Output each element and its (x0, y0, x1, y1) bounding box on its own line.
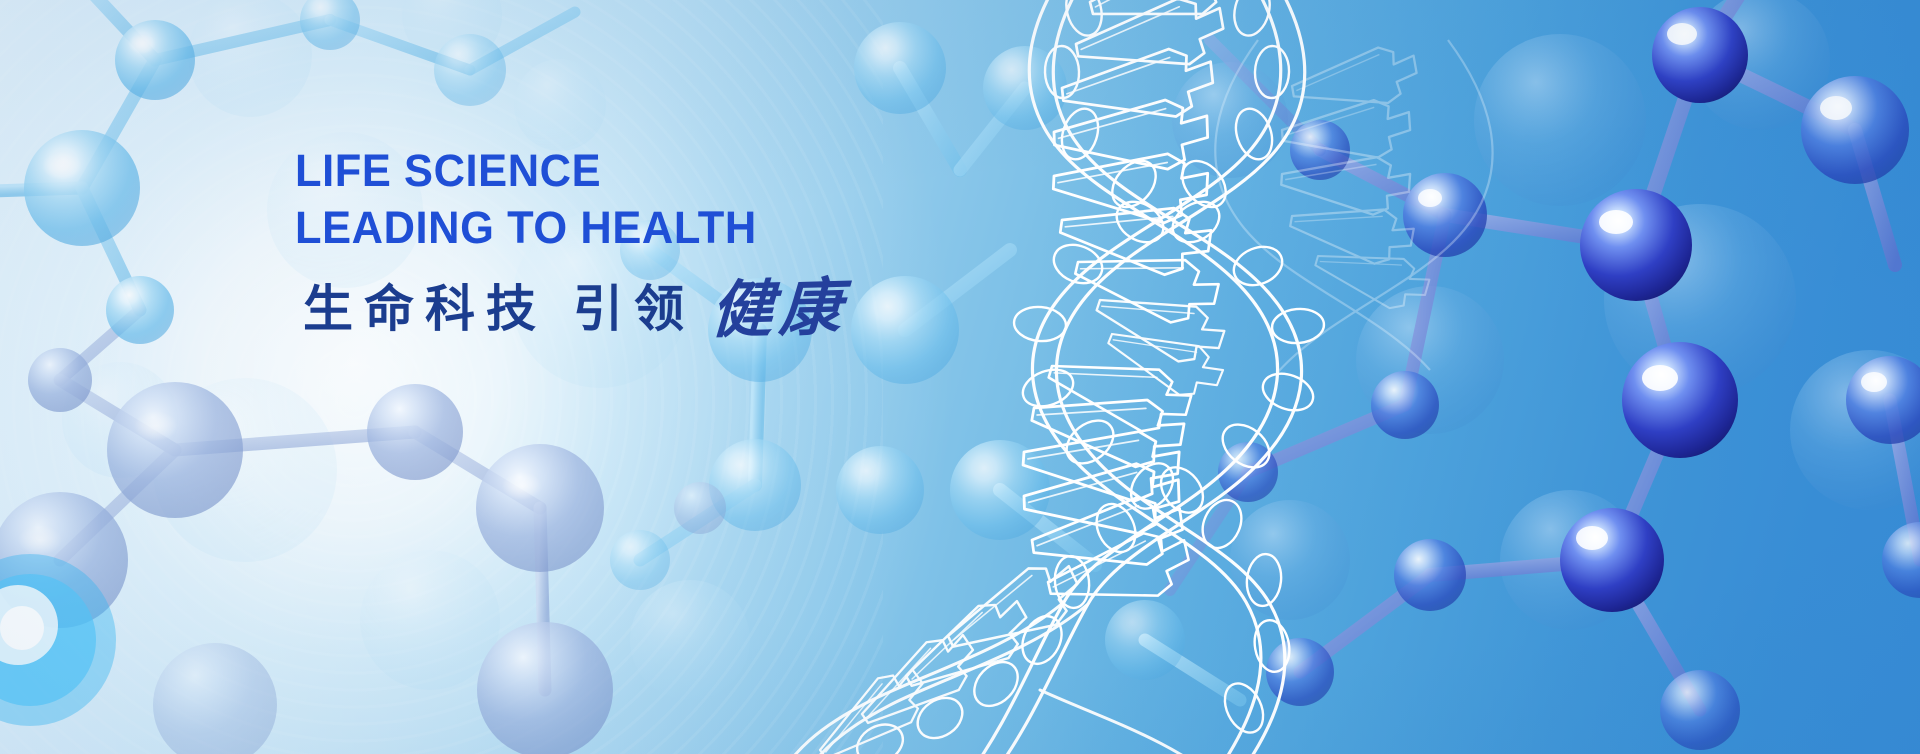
subheadline-cn-part-2: 引领 (573, 284, 695, 334)
background-gradient (0, 0, 1920, 754)
subheadline-cn-part-3: 健康 (710, 276, 849, 342)
subheadline-cn-part-1: 生命科技 (303, 284, 547, 334)
subheadline-cn: 生命科技 引领 健康 (303, 272, 847, 334)
headline-line-2: LEADING TO HEALTH (295, 199, 828, 256)
headline-block: LIFE SCIENCE LEADING TO HEALTH 生命科技 引领 健… (295, 142, 847, 334)
life-science-banner: LIFE SCIENCE LEADING TO HEALTH 生命科技 引领 健… (0, 0, 1920, 754)
headline-line-1: LIFE SCIENCE (295, 142, 828, 199)
